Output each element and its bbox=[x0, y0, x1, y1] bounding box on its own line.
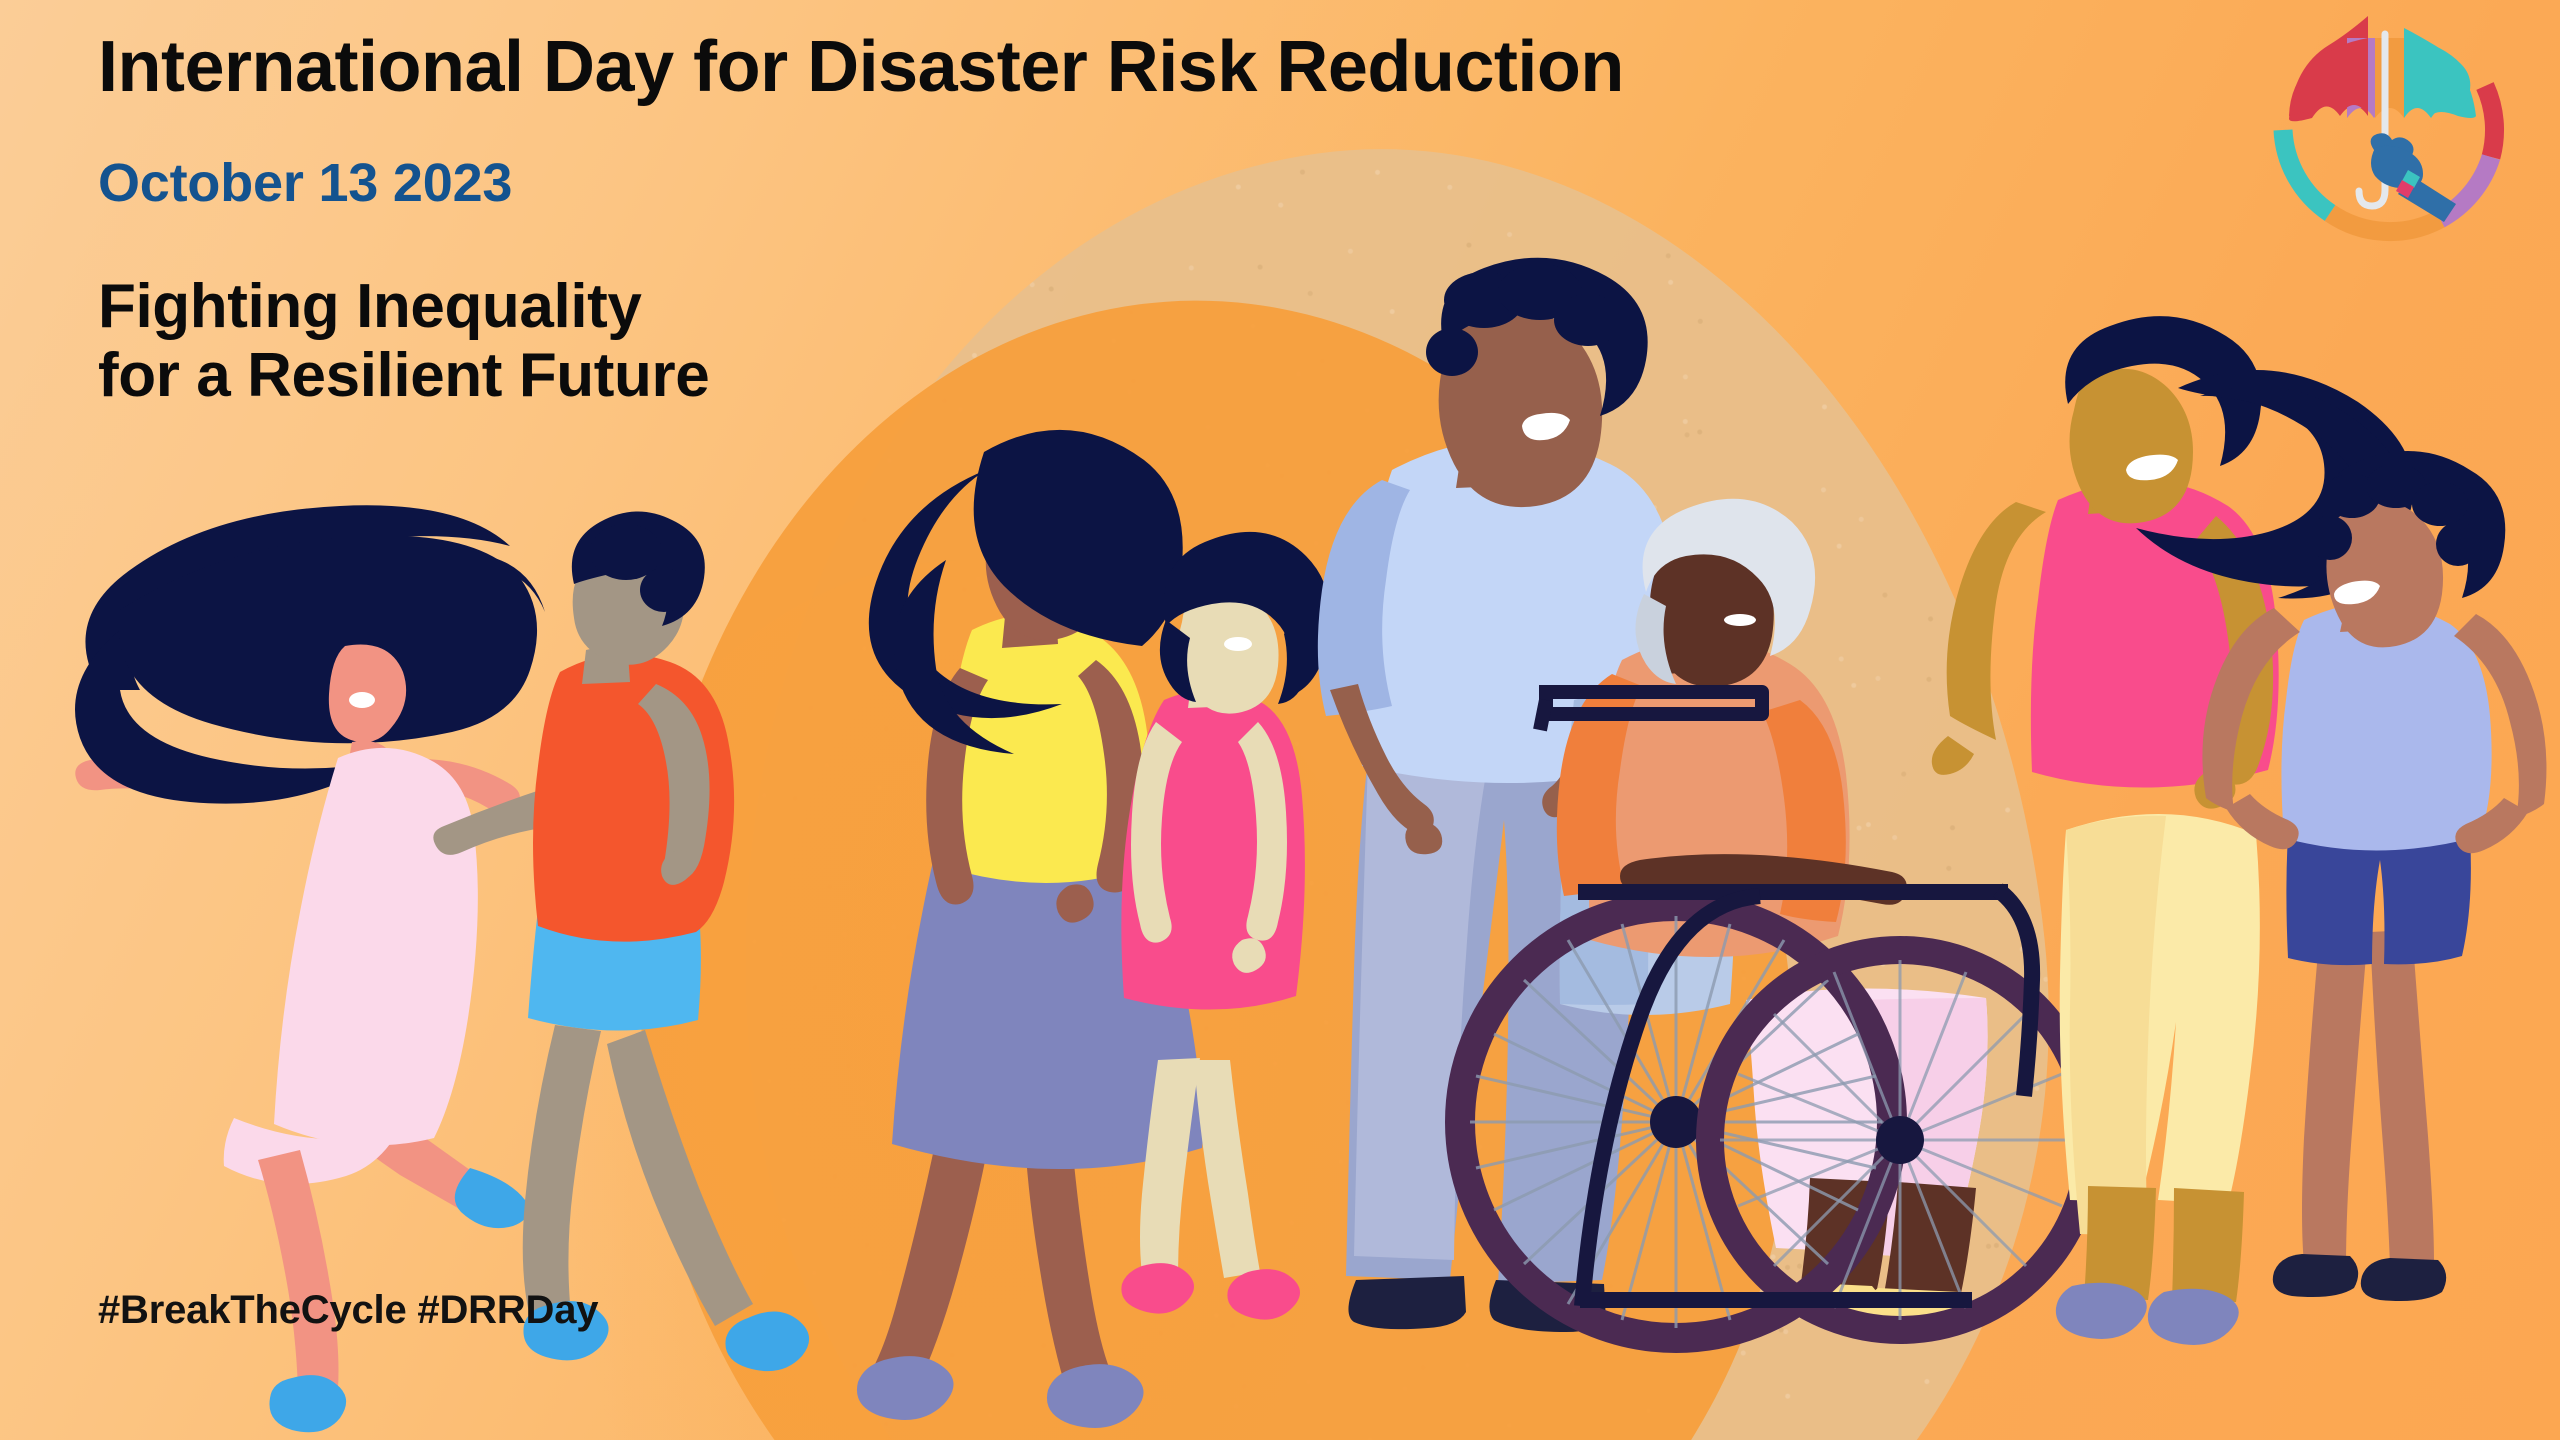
hashtags: #BreakTheCycle #DRRDay bbox=[98, 1288, 598, 1333]
page-title: International Day for Disaster Risk Redu… bbox=[98, 30, 1624, 106]
figure-girl-pink-dress bbox=[1121, 532, 1330, 1320]
logo-hand bbox=[2371, 133, 2456, 222]
subtitle-line-2: for a Resilient Future bbox=[98, 341, 1624, 410]
text-block: International Day for Disaster Risk Redu… bbox=[98, 30, 1624, 410]
page-subtitle: Fighting Inequality for a Resilient Futu… bbox=[98, 272, 1624, 411]
subtitle-line-1: Fighting Inequality bbox=[98, 272, 1624, 341]
drr-umbrella-logo bbox=[2262, 8, 2512, 258]
event-date: October 13 2023 bbox=[98, 152, 1624, 214]
poster-canvas: International Day for Disaster Risk Redu… bbox=[0, 0, 2560, 1440]
